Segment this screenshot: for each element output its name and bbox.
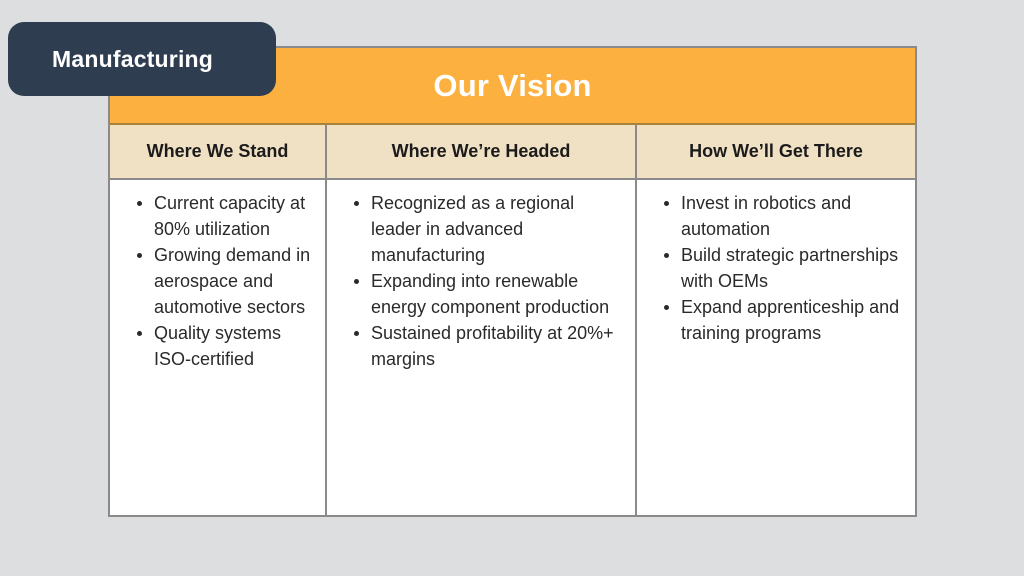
- list-item: Growing demand in aerospace and automoti…: [154, 242, 315, 320]
- list-item: Recognized as a regional leader in advan…: [371, 190, 625, 268]
- table-header-label: Where We Stand: [147, 141, 289, 162]
- table-header-label: How We’ll Get There: [689, 141, 863, 162]
- table-body-row: Current capacity at 80% utilization Grow…: [110, 180, 915, 515]
- table-cell-where-we-stand: Current capacity at 80% utilization Grow…: [110, 180, 325, 515]
- table-header-label: Where We’re Headed: [392, 141, 571, 162]
- list-item: Invest in robotics and automation: [681, 190, 905, 242]
- table-cell-where-were-headed: Recognized as a regional leader in advan…: [325, 180, 635, 515]
- slide-canvas: Our Vision Where We Stand Where We’re He…: [0, 0, 1024, 576]
- bullet-list: Recognized as a regional leader in advan…: [337, 190, 625, 372]
- bullet-list: Current capacity at 80% utilization Grow…: [120, 190, 315, 372]
- list-item: Build strategic partnerships with OEMs: [681, 242, 905, 294]
- vision-table: Our Vision Where We Stand Where We’re He…: [108, 46, 917, 517]
- table-header-where-were-headed: Where We’re Headed: [325, 125, 635, 178]
- category-badge: Manufacturing: [8, 22, 276, 96]
- list-item: Expanding into renewable energy componen…: [371, 268, 625, 320]
- table-header-where-we-stand: Where We Stand: [110, 125, 325, 178]
- table-cell-how-well-get-there: Invest in robotics and automation Build …: [635, 180, 915, 515]
- list-item: Expand apprenticeship and training progr…: [681, 294, 905, 346]
- list-item: Current capacity at 80% utilization: [154, 190, 315, 242]
- category-badge-label: Manufacturing: [52, 46, 213, 73]
- table-header-row: Where We Stand Where We’re Headed How We…: [110, 125, 915, 180]
- page-title: Our Vision: [433, 68, 591, 104]
- bullet-list: Invest in robotics and automation Build …: [647, 190, 905, 346]
- list-item: Sustained profitability at 20%+ margins: [371, 320, 625, 372]
- list-item: Quality systems ISO-certified: [154, 320, 315, 372]
- table-header-how-well-get-there: How We’ll Get There: [635, 125, 915, 178]
